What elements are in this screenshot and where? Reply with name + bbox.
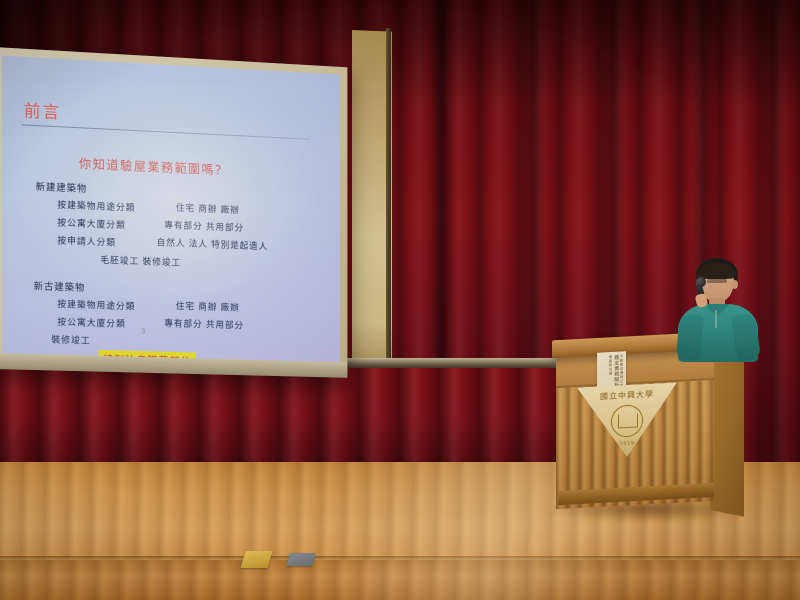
floor-outlet-plate-brass [241, 551, 273, 568]
university-emblem: 國立中興大學 1919 [577, 382, 677, 459]
row-value: 住宅 商辦 廠辦 [176, 299, 240, 314]
row-label: 按公寓大廈分類 [57, 216, 125, 232]
row-label: 按建築物用途分類 [57, 297, 135, 312]
stage-lower-step [0, 560, 800, 600]
presentation-slide: 前言 你知道驗屋業務範圍嗎？ 新建建築物 按建築物用途分類 住宅 商辦 廠辦 按… [2, 55, 340, 362]
row-label: 按建築物用途分類 [57, 198, 135, 214]
slide-divider [22, 124, 310, 139]
row-value: 自然人 法人 特別是起造人 [157, 235, 268, 252]
podium-side-panel [710, 350, 744, 517]
speaker-shirt-placket [715, 310, 717, 328]
row-label: 按公寓大廈分類 [57, 315, 125, 330]
section-heading-old-buildings: 新古建築物 [34, 278, 86, 294]
section-heading-new-buildings: 新建建築物 [36, 179, 88, 195]
speaker-ear-right [732, 280, 738, 289]
projection-screen: 前言 你知道驗屋業務範圍嗎？ 新建建築物 按建築物用途分類 住宅 商辦 廠辦 按… [0, 47, 347, 378]
slide-page-number: 3 [141, 327, 145, 335]
screen-surface: 前言 你知道驗屋業務範圍嗎？ 新建建築物 按建築物用途分類 住宅 商辦 廠辦 按… [2, 55, 340, 362]
row-value: 專有部分 共用部分 [164, 218, 244, 234]
slide-question: 你知道驗屋業務範圍嗎？ [79, 153, 229, 179]
row-label: 毛胚竣工 裝修竣工 [100, 253, 181, 269]
row-label: 裝修竣工 [51, 333, 90, 347]
speaker-arm-right [731, 313, 761, 362]
speaker-arm-left [676, 313, 705, 361]
floor-outlet-plate-steel [286, 553, 316, 566]
row-value: 住宅 商辦 廠辦 [176, 201, 240, 216]
speaker-person [660, 258, 770, 358]
row-value: 專有部分 共用部分 [164, 316, 244, 331]
side-wall-edge [386, 28, 391, 378]
row-label: 按申請人分類 [57, 233, 116, 248]
speaker-eyes [707, 279, 727, 283]
slide-title: 前言 [24, 97, 61, 124]
lecture-hall-photo: 前言 你知道驗屋業務範圍嗎？ 新建建築物 按建築物用途分類 住宅 商辦 廠辦 按… [0, 0, 800, 600]
